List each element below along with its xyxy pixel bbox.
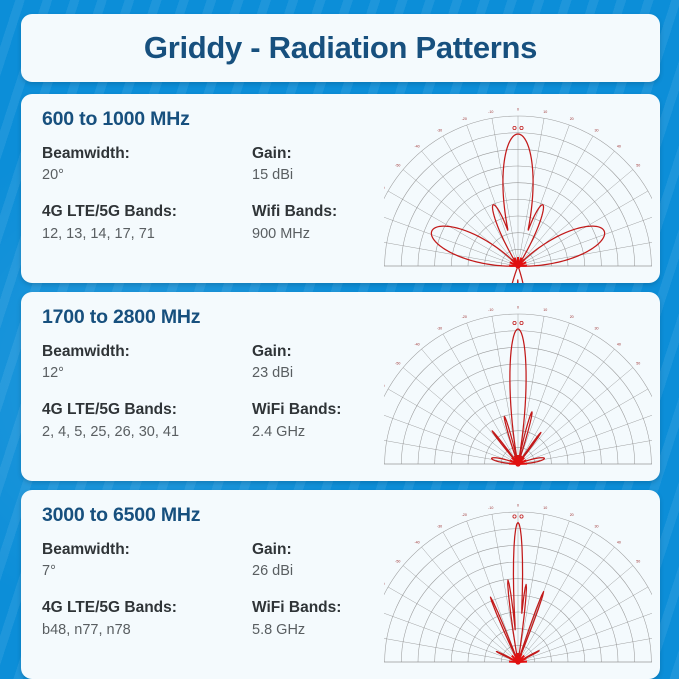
angle-tick-label: 10 <box>543 308 547 312</box>
angle-tick-label: -60 <box>384 582 385 586</box>
spec-grid: Beamwidth: Gain: 7° 26 dBi 4G LTE/5G Ban… <box>42 539 402 641</box>
wifi-bands-value: 900 MHz <box>252 224 402 246</box>
page-title: Griddy - Radiation Patterns <box>144 30 537 66</box>
wifi-bands-label: WiFi Bands: <box>252 399 402 421</box>
angle-tick-label: 0 <box>517 306 519 310</box>
panel-heading: 1700 to 2800 MHz <box>42 306 402 329</box>
band-panel-1700-2800: 1700 to 2800 MHz Beamwidth: Gain: 12° 23… <box>21 292 660 481</box>
angle-tick-label: 30 <box>595 129 599 133</box>
angle-tick-label: 20 <box>570 117 574 121</box>
header-card: Griddy - Radiation Patterns <box>21 14 660 82</box>
angle-tick-label: -20 <box>462 117 467 121</box>
angle-tick-label: -60 <box>384 186 385 190</box>
gain-value: 26 dBi <box>252 561 402 583</box>
lte-bands-value: 2, 4, 5, 25, 26, 30, 41 <box>42 422 252 444</box>
gain-value: 23 dBi <box>252 363 402 385</box>
angle-tick-label: 40 <box>617 540 621 544</box>
angle-tick-label: -10 <box>488 110 493 114</box>
page-root: Griddy - Radiation Patterns 600 to 1000 … <box>0 0 679 679</box>
lte-bands-value: 12, 13, 14, 17, 71 <box>42 224 252 246</box>
lte-bands-label: 4G LTE/5G Bands: <box>42 399 252 421</box>
spec-grid: Beamwidth: Gain: 12° 23 dBi 4G LTE/5G Ba… <box>42 341 402 443</box>
gain-value: 15 dBi <box>252 165 402 187</box>
angle-tick-label: -30 <box>437 525 442 529</box>
band-panel-3000-6500: 3000 to 6500 MHz Beamwidth: Gain: 7° 26 … <box>21 490 660 679</box>
angle-tick-label: 40 <box>617 144 621 148</box>
panel-heading: 3000 to 6500 MHz <box>42 504 402 527</box>
polar-chart-svg: -90-80-70-60-50-40-30-20-100102030405060… <box>384 94 652 283</box>
panel-heading: 600 to 1000 MHz <box>42 108 402 131</box>
panel-specs: 600 to 1000 MHz Beamwidth: Gain: 20° 15 … <box>42 108 402 245</box>
angle-tick-label: -60 <box>384 384 385 388</box>
gain-label: Gain: <box>252 341 402 363</box>
angle-tick-label: 50 <box>636 164 640 168</box>
spec-spacer <box>42 385 402 399</box>
spec-grid: Beamwidth: Gain: 20° 15 dBi 4G LTE/5G Ba… <box>42 143 402 245</box>
angle-tick-label: -30 <box>437 327 442 331</box>
wifi-bands-value: 5.8 GHz <box>252 620 402 642</box>
angle-tick-label: -10 <box>488 308 493 312</box>
wifi-bands-value: 2.4 GHz <box>252 422 402 444</box>
spec-spacer <box>42 583 402 597</box>
panel-specs: 3000 to 6500 MHz Beamwidth: Gain: 7° 26 … <box>42 504 402 641</box>
gain-label: Gain: <box>252 539 402 561</box>
panel-specs: 1700 to 2800 MHz Beamwidth: Gain: 12° 23… <box>42 306 402 443</box>
angle-tick-label: -40 <box>414 144 419 148</box>
wifi-bands-label: Wifi Bands: <box>252 201 402 223</box>
beamwidth-label: Beamwidth: <box>42 539 252 561</box>
polar-plot-1700-2800: -90-80-70-60-50-40-30-20-100102030405060… <box>384 292 652 481</box>
polar-chart-svg: -90-80-70-60-50-40-30-20-100102030405060… <box>384 292 652 481</box>
beamwidth-value: 20° <box>42 165 252 187</box>
angle-tick-label: 10 <box>543 110 547 114</box>
beamwidth-value: 12° <box>42 363 252 385</box>
angle-tick-label: 30 <box>595 525 599 529</box>
beamwidth-value: 7° <box>42 561 252 583</box>
angle-tick-label: -50 <box>395 164 400 168</box>
angle-tick-label: 30 <box>595 327 599 331</box>
band-panel-600-1000: 600 to 1000 MHz Beamwidth: Gain: 20° 15 … <box>21 94 660 283</box>
angle-tick-label: -40 <box>414 540 419 544</box>
angle-tick-label: 0 <box>517 108 519 112</box>
angle-tick-label: 10 <box>543 506 547 510</box>
angle-tick-label: -30 <box>437 129 442 133</box>
gain-label: Gain: <box>252 143 402 165</box>
angle-tick-label: 50 <box>636 362 640 366</box>
polar-plot-3000-6500: -90-80-70-60-50-40-30-20-100102030405060… <box>384 490 652 679</box>
beamwidth-label: Beamwidth: <box>42 143 252 165</box>
polar-plot-600-1000: -90-80-70-60-50-40-30-20-100102030405060… <box>384 94 652 283</box>
radiation-pattern-curve <box>490 523 543 664</box>
angle-tick-label: 40 <box>617 342 621 346</box>
spec-spacer <box>42 187 402 201</box>
angle-tick-label: -20 <box>462 513 467 517</box>
angle-tick-label: -40 <box>414 342 419 346</box>
angle-tick-label: 50 <box>636 560 640 564</box>
wifi-bands-label: WiFi Bands: <box>252 597 402 619</box>
angle-tick-label: 0 <box>517 504 519 508</box>
beamwidth-label: Beamwidth: <box>42 341 252 363</box>
angle-tick-label: -50 <box>395 560 400 564</box>
polar-chart-svg: -90-80-70-60-50-40-30-20-100102030405060… <box>384 490 652 679</box>
lte-bands-value: b48, n77, n78 <box>42 620 252 642</box>
lte-bands-label: 4G LTE/5G Bands: <box>42 201 252 223</box>
angle-tick-label: -50 <box>395 362 400 366</box>
lte-bands-label: 4G LTE/5G Bands: <box>42 597 252 619</box>
angle-tick-label: 20 <box>570 315 574 319</box>
angle-tick-label: -20 <box>462 315 467 319</box>
angle-tick-label: -10 <box>488 506 493 510</box>
angle-tick-label: 20 <box>570 513 574 517</box>
